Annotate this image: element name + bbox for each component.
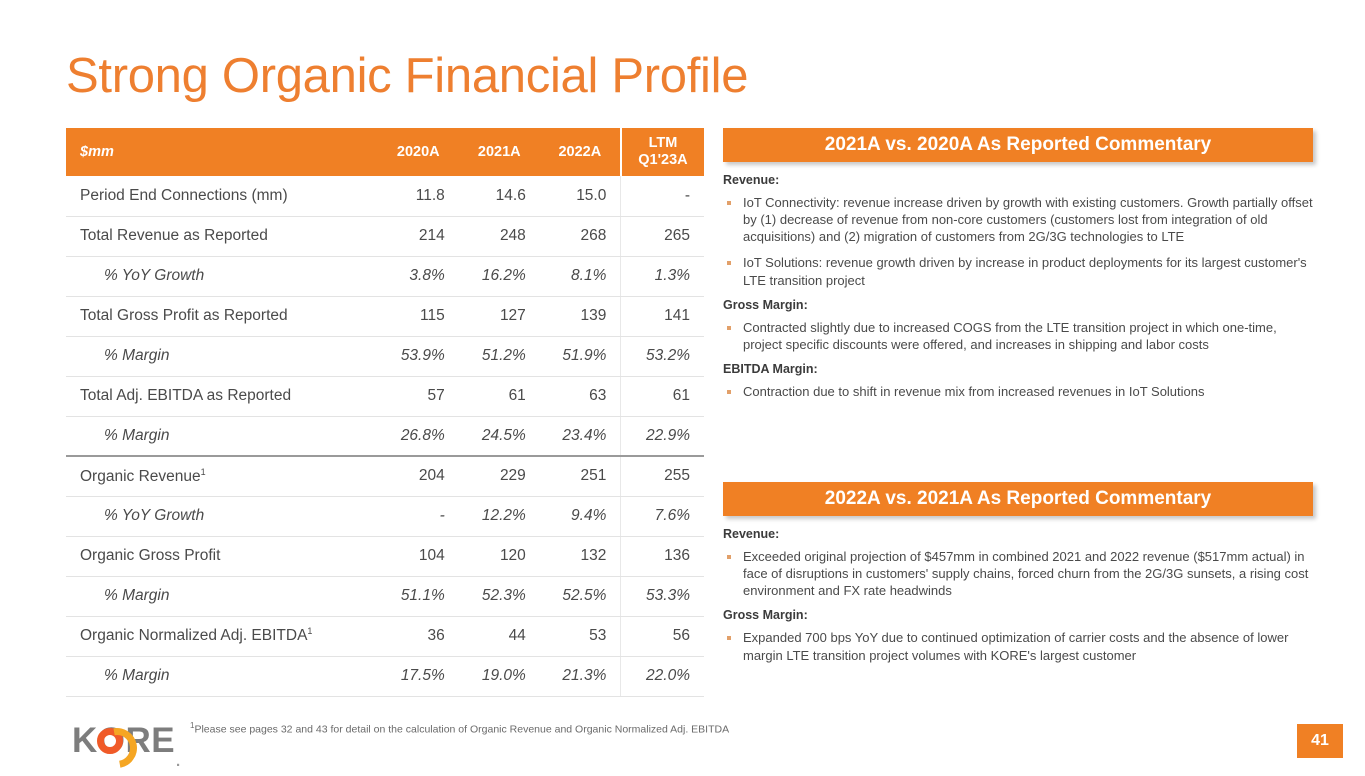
table-header: $mm 2020A 2021A 2022A LTM Q1'23A <box>66 128 704 176</box>
row-label: % Margin <box>66 576 378 616</box>
row-value: 120 <box>459 536 540 576</box>
row-value: 52.3% <box>459 576 540 616</box>
footnote: 1Please see pages 32 and 43 for detail o… <box>190 721 729 736</box>
row-footnote-marker: 1 <box>201 467 206 477</box>
ltm-label-line2: Q1'23A <box>622 152 704 169</box>
row-value: 52.5% <box>540 576 621 616</box>
row-footnote-marker: 1 <box>307 626 312 636</box>
table-row: Organic Normalized Adj. EBITDA136445356 <box>66 616 704 656</box>
footnote-text: Please see pages 32 and 43 for detail on… <box>194 724 729 736</box>
row-value: 11.8 <box>378 176 459 216</box>
row-label: Period End Connections (mm) <box>66 176 378 216</box>
row-value: 56 <box>621 616 704 656</box>
row-value: 8.1% <box>540 256 621 296</box>
row-value: 51.1% <box>378 576 459 616</box>
row-value: 24.5% <box>459 416 540 456</box>
row-label: % YoY Growth <box>66 496 378 536</box>
row-value: 7.6% <box>621 496 704 536</box>
commentary-subhead: Revenue: <box>723 173 1313 187</box>
row-value: 12.2% <box>459 496 540 536</box>
bullet-text: Contracted slightly due to increased COG… <box>743 319 1313 353</box>
row-value: 9.4% <box>540 496 621 536</box>
bullet-square-icon <box>727 636 731 640</box>
table-row: % Margin53.9%51.2%51.9%53.2% <box>66 336 704 376</box>
commentary-subhead: Gross Margin: <box>723 298 1313 312</box>
row-value: 51.9% <box>540 336 621 376</box>
table-row: Organic Gross Profit104120132136 <box>66 536 704 576</box>
row-value: 132 <box>540 536 621 576</box>
financial-table-container: $mm 2020A 2021A 2022A LTM Q1'23A Period … <box>66 128 704 697</box>
table-row: Total Revenue as Reported214248268265 <box>66 216 704 256</box>
bullet-square-icon <box>727 555 731 559</box>
row-value: 14.6 <box>459 176 540 216</box>
table-row: % YoY Growth3.8%16.2%8.1%1.3% <box>66 256 704 296</box>
table-row: % Margin51.1%52.3%52.5%53.3% <box>66 576 704 616</box>
commentary-body-1: Revenue:IoT Connectivity: revenue increa… <box>723 162 1313 400</box>
row-value: - <box>621 176 704 216</box>
row-label: % YoY Growth <box>66 256 378 296</box>
kore-logo-ring-icon <box>97 728 123 754</box>
row-value: 63 <box>540 376 621 416</box>
row-value: 57 <box>378 376 459 416</box>
column-header-label: $mm <box>66 128 378 176</box>
row-value: 23.4% <box>540 416 621 456</box>
table-row: % Margin17.5%19.0%21.3%22.0% <box>66 656 704 696</box>
bullet-square-icon <box>727 201 731 205</box>
row-value: 255 <box>621 456 704 496</box>
commentary-subhead: Revenue: <box>723 527 1313 541</box>
row-value: 1.3% <box>621 256 704 296</box>
column-header-ltm: LTM Q1'23A <box>621 128 704 176</box>
row-label: Total Adj. EBITDA as Reported <box>66 376 378 416</box>
row-value: 61 <box>459 376 540 416</box>
bullet-square-icon <box>727 326 731 330</box>
row-label: % Margin <box>66 656 378 696</box>
row-value: 115 <box>378 296 459 336</box>
row-value: 36 <box>378 616 459 656</box>
row-value: 16.2% <box>459 256 540 296</box>
row-value: 15.0 <box>540 176 621 216</box>
row-label: Organic Normalized Adj. EBITDA1 <box>66 616 378 656</box>
bullet-square-icon <box>727 261 731 265</box>
column-header-2020a: 2020A <box>378 128 459 176</box>
financial-table: $mm 2020A 2021A 2022A LTM Q1'23A Period … <box>66 128 704 697</box>
row-value: 268 <box>540 216 621 256</box>
ltm-label-line1: LTM <box>622 135 704 152</box>
commentary-bullet: Contraction due to shift in revenue mix … <box>723 383 1313 400</box>
row-value: - <box>378 496 459 536</box>
commentary-bullet: IoT Connectivity: revenue increase drive… <box>723 194 1313 245</box>
row-value: 214 <box>378 216 459 256</box>
row-value: 251 <box>540 456 621 496</box>
row-value: 44 <box>459 616 540 656</box>
column-header-2021a: 2021A <box>459 128 540 176</box>
row-label: Organic Revenue1 <box>66 456 378 496</box>
page-number-badge: 41 <box>1297 724 1343 758</box>
commentary-subhead: Gross Margin: <box>723 608 1313 622</box>
table-row: % Margin26.8%24.5%23.4%22.9% <box>66 416 704 456</box>
commentary-body-2: Revenue:Exceeded original projection of … <box>723 516 1313 664</box>
table-row: % YoY Growth-12.2%9.4%7.6% <box>66 496 704 536</box>
table-row: Organic Revenue1204229251255 <box>66 456 704 496</box>
bullet-text: IoT Connectivity: revenue increase drive… <box>743 194 1313 245</box>
row-value: 53.3% <box>621 576 704 616</box>
bullet-text: Expanded 700 bps YoY due to continued op… <box>743 629 1313 663</box>
row-value: 19.0% <box>459 656 540 696</box>
row-label: % Margin <box>66 416 378 456</box>
bullet-square-icon <box>727 390 731 394</box>
row-value: 229 <box>459 456 540 496</box>
row-value: 22.9% <box>621 416 704 456</box>
table-header-row: $mm 2020A 2021A 2022A LTM Q1'23A <box>66 128 704 176</box>
table-row: Period End Connections (mm)11.814.615.0- <box>66 176 704 216</box>
commentary-subhead: EBITDA Margin: <box>723 362 1313 376</box>
commentary-panel-1: 2021A vs. 2020A As Reported Commentary R… <box>723 128 1313 409</box>
row-value: 136 <box>621 536 704 576</box>
row-value: 104 <box>378 536 459 576</box>
commentary-bullet: Contracted slightly due to increased COG… <box>723 319 1313 353</box>
commentary-header-1: 2021A vs. 2020A As Reported Commentary <box>723 128 1313 162</box>
commentary-bullet: Expanded 700 bps YoY due to continued op… <box>723 629 1313 663</box>
kore-logo: KORE . <box>72 721 184 761</box>
page-title: Strong Organic Financial Profile <box>66 52 748 101</box>
bullet-text: Contraction due to shift in revenue mix … <box>743 383 1205 400</box>
row-value: 3.8% <box>378 256 459 296</box>
row-value: 53 <box>540 616 621 656</box>
commentary-panel-2: 2022A vs. 2021A As Reported Commentary R… <box>723 482 1313 673</box>
bullet-text: IoT Solutions: revenue growth driven by … <box>743 254 1313 288</box>
commentary-bullet: IoT Solutions: revenue growth driven by … <box>723 254 1313 288</box>
column-header-2022a: 2022A <box>540 128 621 176</box>
row-value: 248 <box>459 216 540 256</box>
row-value: 51.2% <box>459 336 540 376</box>
row-value: 17.5% <box>378 656 459 696</box>
row-value: 127 <box>459 296 540 336</box>
bullet-text: Exceeded original projection of $457mm i… <box>743 548 1313 599</box>
commentary-bullet: Exceeded original projection of $457mm i… <box>723 548 1313 599</box>
table-body: Period End Connections (mm)11.814.615.0-… <box>66 176 704 696</box>
commentary-header-2: 2022A vs. 2021A As Reported Commentary <box>723 482 1313 516</box>
row-value: 53.9% <box>378 336 459 376</box>
row-label: Total Revenue as Reported <box>66 216 378 256</box>
kore-logo-registered-mark: . <box>176 753 180 770</box>
row-value: 22.0% <box>621 656 704 696</box>
row-label: Total Gross Profit as Reported <box>66 296 378 336</box>
row-value: 139 <box>540 296 621 336</box>
row-value: 61 <box>621 376 704 416</box>
row-value: 204 <box>378 456 459 496</box>
row-value: 26.8% <box>378 416 459 456</box>
row-value: 265 <box>621 216 704 256</box>
row-label: Organic Gross Profit <box>66 536 378 576</box>
row-value: 21.3% <box>540 656 621 696</box>
table-row: Total Gross Profit as Reported1151271391… <box>66 296 704 336</box>
row-label: % Margin <box>66 336 378 376</box>
table-row: Total Adj. EBITDA as Reported57616361 <box>66 376 704 416</box>
row-value: 53.2% <box>621 336 704 376</box>
row-value: 141 <box>621 296 704 336</box>
